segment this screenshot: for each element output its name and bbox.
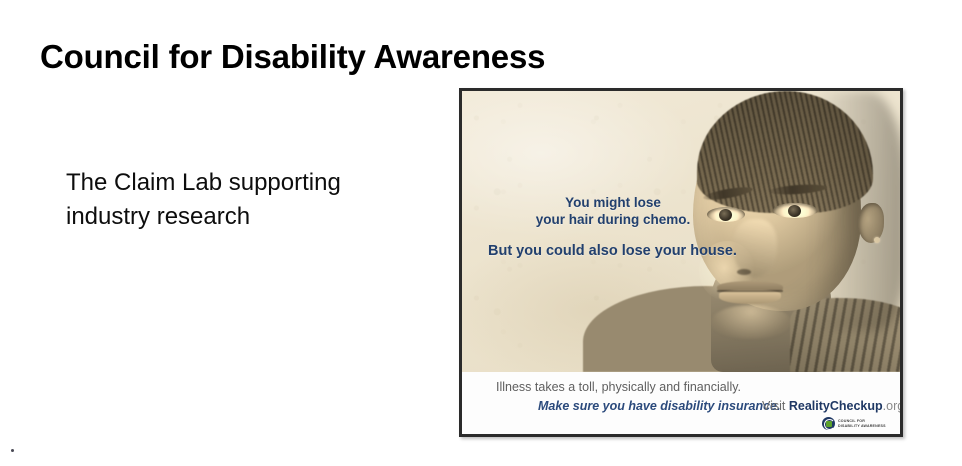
lower-lip [719, 290, 781, 304]
cda-logo-text-line-2: DISABILITY AWARENESS [838, 424, 886, 428]
ad-headline-line-1: You might lose [488, 194, 738, 211]
chin [711, 305, 791, 339]
cda-logo-text: COUNCIL FOR DISABILITY AWARENESS [838, 419, 886, 428]
ad-caption-line-2: Make sure you have disability insurance. [538, 399, 780, 413]
nostril [737, 269, 751, 275]
stray-dot-artifact [11, 449, 14, 452]
visit-tld-label: .org [883, 399, 903, 413]
ad-photograph: You might lose your hair during chemo. B… [462, 91, 900, 372]
ad-headline-line-3: But you could also lose your house. [488, 242, 738, 261]
face-shadow [810, 91, 900, 331]
mouth-line [717, 290, 783, 292]
visit-prefix-label: Visit [762, 399, 789, 413]
ad-visit-url[interactable]: Visit RealityCheckup.org [762, 399, 903, 413]
nose [733, 219, 777, 277]
cda-logo-icon [822, 417, 835, 430]
visit-brand-label: RealityCheckup [789, 399, 883, 413]
slide-body-text: The Claim Lab supporting industry resear… [66, 166, 406, 234]
ad-caption-line-1: Illness takes a toll, physically and fin… [496, 380, 741, 394]
ad-headline-line-2: your hair during chemo. [488, 211, 738, 228]
cda-logo: COUNCIL FOR DISABILITY AWARENESS [822, 417, 886, 430]
page-title: Council for Disability Awareness [40, 38, 545, 76]
ad-caption-band: Illness takes a toll, physically and fin… [462, 372, 900, 434]
cda-logo-text-line-1: COUNCIL FOR [838, 419, 865, 423]
ad-image: You might lose your hair during chemo. B… [459, 88, 903, 437]
slide-canvas: Council for Disability Awareness The Cla… [0, 0, 962, 466]
ad-headline: You might lose your hair during chemo. B… [488, 194, 738, 260]
